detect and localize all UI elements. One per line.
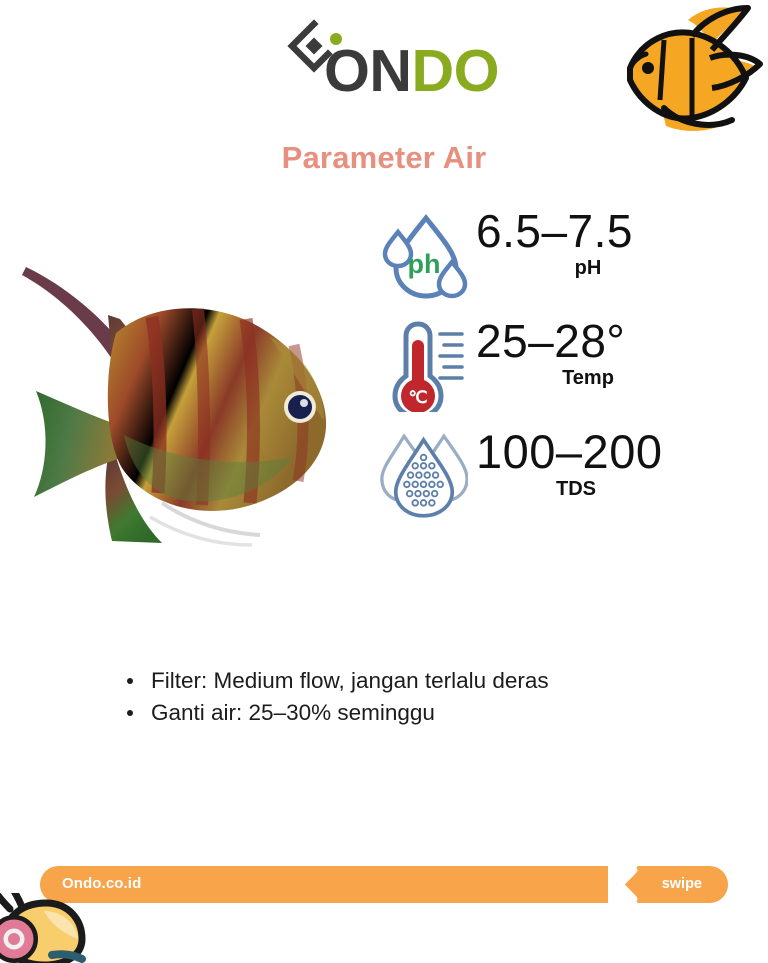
page-title: Parameter Air — [0, 140, 768, 176]
brand-word-do: DO — [412, 38, 500, 104]
parameter-row-tds: 100–200 TDS — [376, 426, 756, 536]
footer-bar[interactable]: Ondo.co.id swipe — [40, 866, 728, 903]
parameter-label-ph: pH — [476, 257, 756, 280]
angelfish-icon — [600, 2, 765, 134]
list-item: Ganti air: 25–30% seminggu — [124, 697, 684, 729]
parameter-label-temp: Temp — [476, 367, 756, 390]
brand-logo: ONDO — [284, 18, 504, 102]
parameter-text-tds: 100–200 TDS — [476, 426, 756, 501]
angelfish-photo — [12, 245, 342, 555]
list-item: Filter: Medium flow, jangan terlalu dera… — [124, 665, 684, 697]
parameter-list: ph 6.5–7.5 pH ℃ — [376, 206, 756, 536]
parameter-label-tds: TDS — [476, 478, 756, 501]
footer-swipe-label[interactable]: swipe — [662, 876, 702, 892]
parameter-value-ph: 6.5–7.5 — [476, 206, 756, 258]
ph-icon-text: ph — [408, 249, 441, 279]
parameter-row-temp: ℃ 25–28° Temp — [376, 316, 756, 426]
thermometer-icon: ℃ — [380, 320, 468, 412]
footer-site-label[interactable]: Ondo.co.id — [62, 875, 141, 892]
infographic-page: ONDO Parameter Air — [0, 0, 768, 960]
parameter-value-tds: 100–200 — [476, 426, 756, 479]
ph-droplet-icon: ph — [380, 210, 468, 302]
brand-word-on: ON — [324, 38, 412, 104]
chevron-left-icon — [608, 866, 650, 903]
parameter-row-ph: ph 6.5–7.5 pH — [376, 206, 756, 316]
care-notes-list: Filter: Medium flow, jangan terlalu dera… — [124, 665, 684, 729]
bee-mascot-icon — [0, 893, 100, 963]
parameter-text-ph: 6.5–7.5 pH — [476, 206, 756, 280]
parameter-value-temp: 25–28° — [476, 316, 756, 368]
parameter-text-temp: 25–28° Temp — [476, 316, 756, 390]
tds-droplets-icon — [380, 430, 468, 522]
thermometer-icon-text: ℃ — [408, 388, 427, 407]
brand-wordmark: ONDO — [324, 42, 499, 101]
